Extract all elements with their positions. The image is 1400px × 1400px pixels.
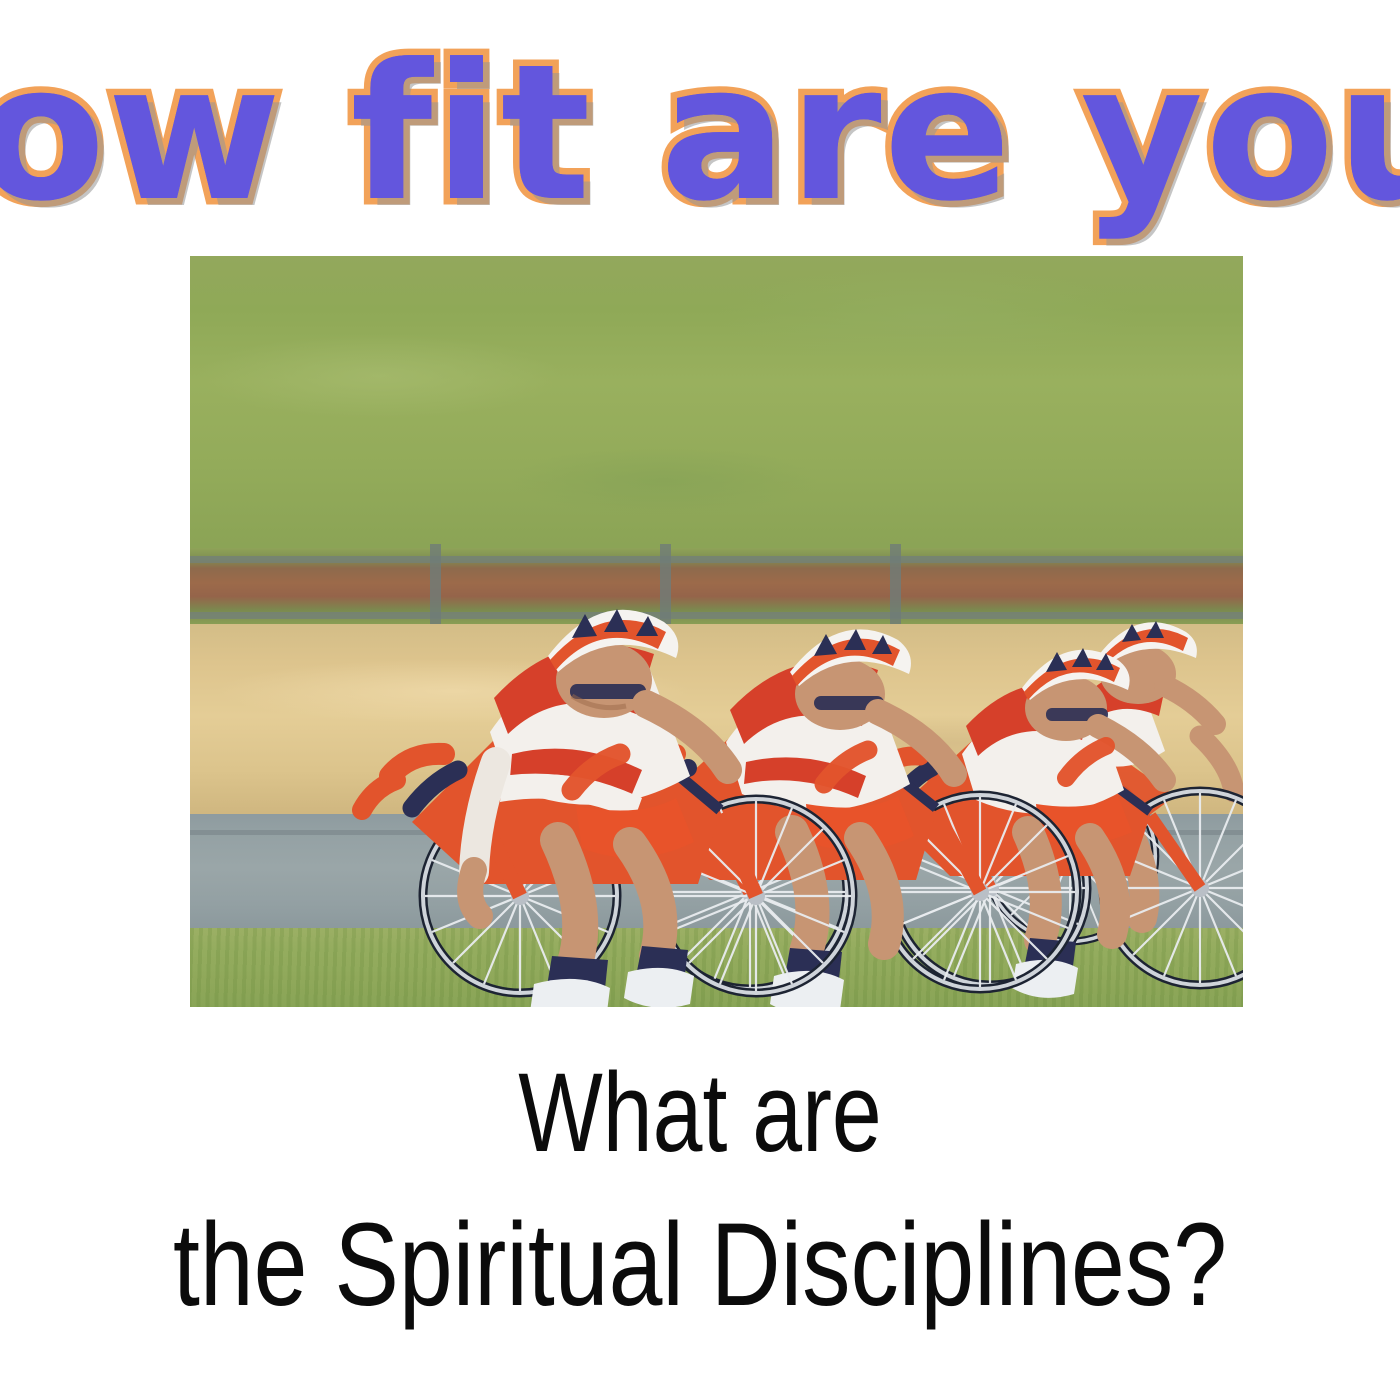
title-band: How fit are you? How fit are you?: [0, 0, 1400, 252]
caption-block: What are the Spiritual Disciplines?: [0, 1050, 1400, 1332]
cyclists-photo: [190, 256, 1243, 1007]
page-title: How fit are you?: [0, 40, 1400, 228]
slide: How fit are you? How fit are you?: [0, 0, 1400, 1400]
cyclist-group: [190, 256, 1243, 1007]
caption-line-1: What are: [140, 1050, 1260, 1175]
caption-line-2: the Spiritual Disciplines?: [126, 1199, 1274, 1331]
